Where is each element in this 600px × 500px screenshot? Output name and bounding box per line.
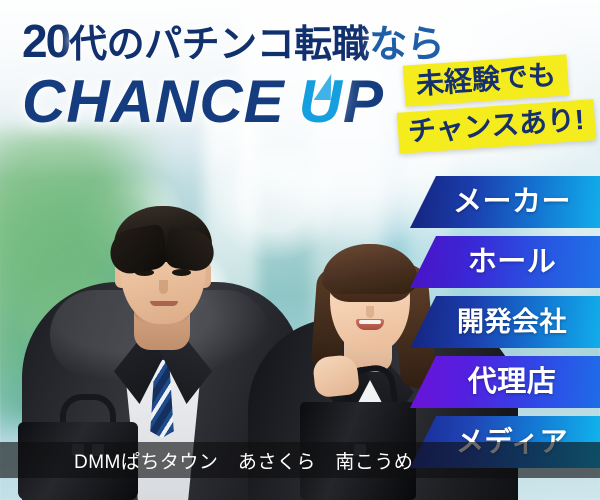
banner-root: 20代のパチンコ転職なら CHANCEUP 未経験でも チャンスあり! メーカー… [0,0,600,500]
logo-letter-p: P [343,68,384,135]
male-mouth [150,301,178,306]
category-band-maker[interactable]: メーカー [410,176,600,228]
category-label: ホール [454,248,557,277]
male-nose [159,280,168,294]
headline: 20代のパチンコ転職なら [22,18,444,64]
headline-number: 20 [22,15,69,67]
caption-bar: DMMぱちタウン あさくら 南こうめ [0,442,600,478]
headline-tail: なら [369,24,444,66]
logo-word-chance: CHANCE [22,68,285,135]
category-band-development[interactable]: 開発会社 [410,296,600,348]
category-label: 開発会社 [443,309,567,336]
briefcase-right [300,380,416,500]
headline-main: 代のパチンコ転職 [69,24,369,66]
caption-text: DMMぱちタウン あさくら 南こうめ [0,447,413,474]
female-nose [366,306,374,318]
category-label: 代理店 [454,368,557,397]
category-band-list: メーカー ホール 開発会社 代理店 メディア [410,176,600,476]
female-hair-top [322,244,418,294]
category-band-hall[interactable]: ホール [410,236,600,288]
female-hand [312,354,360,398]
category-band-agency[interactable]: 代理店 [410,356,600,408]
category-label: メーカー [439,188,571,217]
female-teeth [359,320,381,324]
